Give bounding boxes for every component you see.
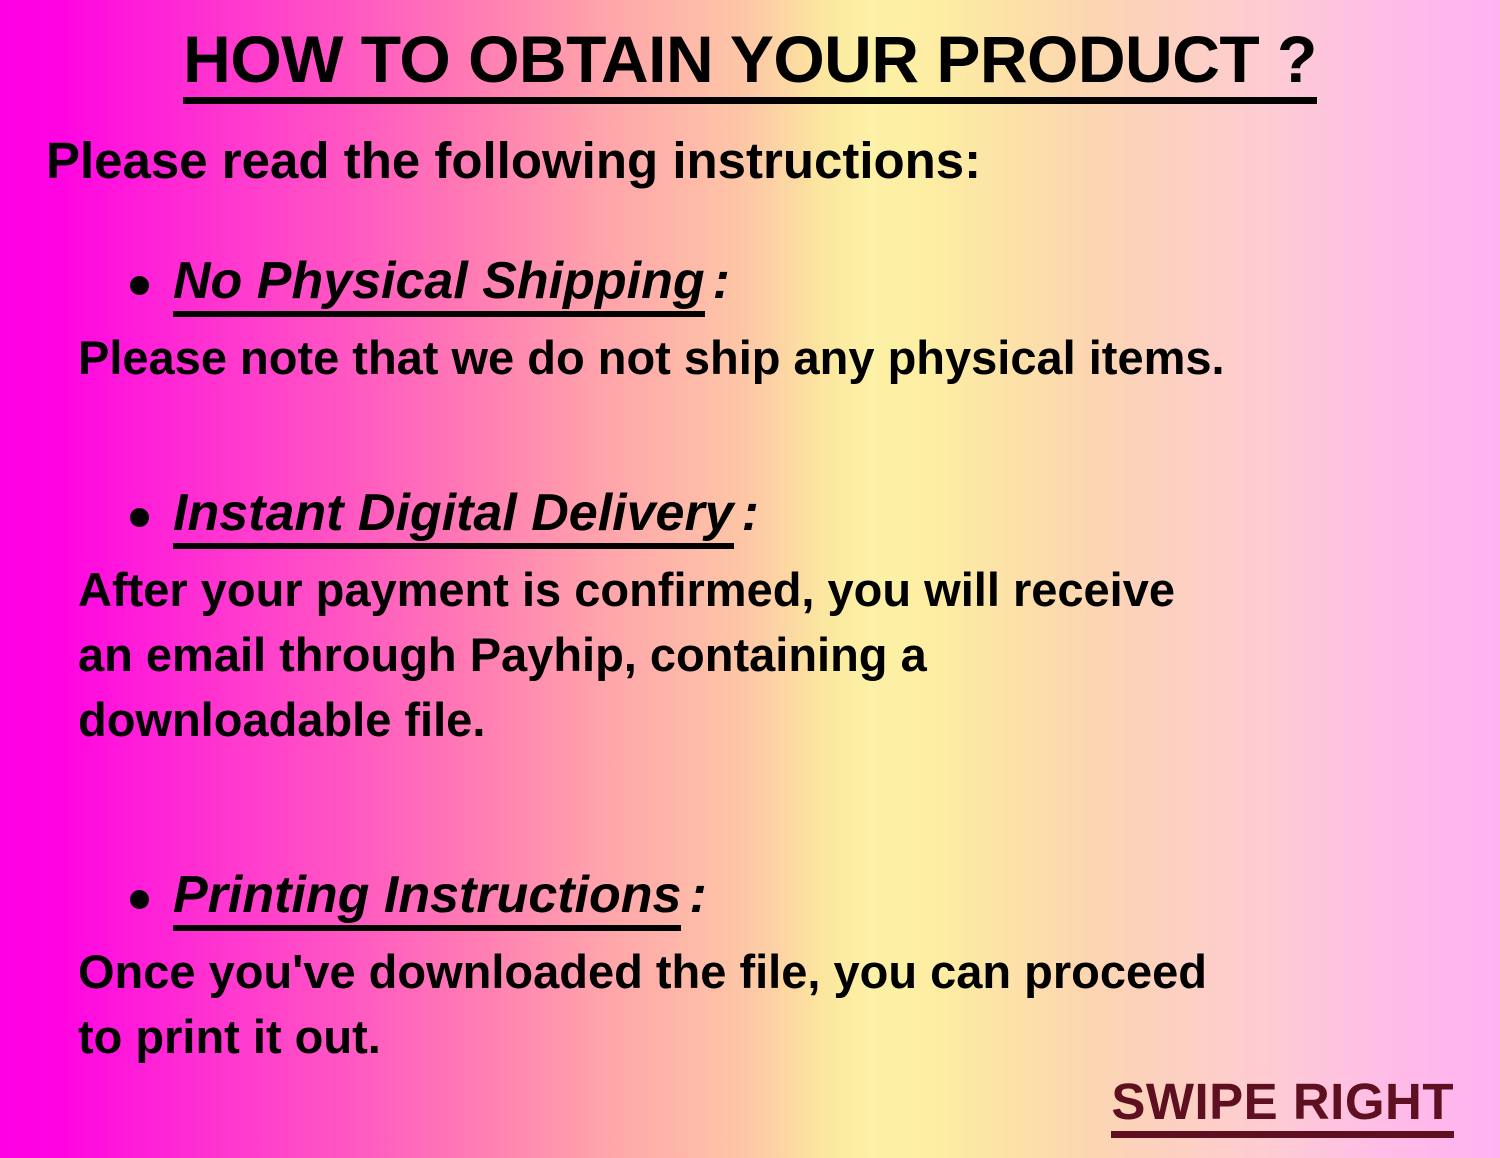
- body-line: Once you've downloaded the file, you can…: [78, 940, 1430, 1005]
- swipe-right-label: SWIPE RIGHT: [1111, 1076, 1454, 1138]
- bullet-dot-icon: [130, 890, 149, 909]
- page-title: HOW TO OBTAIN YOUR PRODUCT ?: [183, 26, 1317, 104]
- instruction-body-2: After your payment is confirmed, you wil…: [0, 558, 1500, 753]
- bullet-heading-row-3: Printing Instructions:: [0, 866, 1500, 926]
- instruction-block-1: No Physical Shipping: Please note that w…: [0, 252, 1500, 391]
- body-line: After your payment is confirmed, you wil…: [78, 558, 1430, 623]
- poster-canvas: HOW TO OBTAIN YOUR PRODUCT ? Please read…: [0, 0, 1500, 1158]
- bullet-heading-row-1: No Physical Shipping:: [0, 252, 1500, 312]
- bullet-heading-3-text: Printing Instructions: [173, 866, 681, 931]
- bullet-dot-icon: [130, 508, 149, 527]
- body-line: to print it out.: [78, 1005, 1430, 1070]
- bullet-heading-2-text: Instant Digital Delivery: [173, 484, 734, 549]
- instruction-body-3: Once you've downloaded the file, you can…: [0, 940, 1500, 1070]
- subtitle: Please read the following instructions:: [46, 134, 981, 188]
- body-line: Please note that we do not ship any phys…: [78, 326, 1430, 391]
- page-title-container: HOW TO OBTAIN YOUR PRODUCT ?: [0, 26, 1500, 104]
- bullet-heading-1-text: No Physical Shipping: [173, 252, 705, 317]
- body-line: downloadable file.: [78, 688, 1430, 753]
- instruction-block-2: Instant Digital Delivery: After your pay…: [0, 484, 1500, 752]
- instruction-block-3: Printing Instructions: Once you've downl…: [0, 866, 1500, 1070]
- bullet-heading-row-2: Instant Digital Delivery:: [0, 484, 1500, 544]
- bullet-heading-2: Instant Digital Delivery:: [173, 484, 759, 544]
- bullet-heading-3: Printing Instructions:: [173, 866, 707, 926]
- instruction-body-1: Please note that we do not ship any phys…: [0, 326, 1500, 391]
- body-line: an email through Payhip, containing a: [78, 623, 1430, 688]
- bullet-heading-1-suffix: :: [705, 252, 730, 310]
- bullet-dot-icon: [130, 276, 149, 295]
- bullet-heading-1: No Physical Shipping:: [173, 252, 730, 312]
- bullet-heading-2-suffix: :: [734, 484, 759, 542]
- bullet-heading-3-suffix: :: [681, 866, 706, 924]
